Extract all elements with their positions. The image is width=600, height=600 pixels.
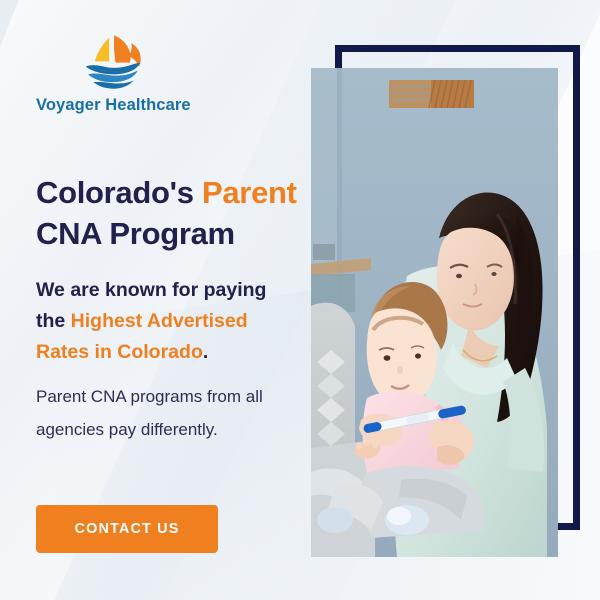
headline-accent: Parent <box>202 175 297 210</box>
content-column: Voyager Healthcare Colorado's ParentCNA … <box>36 0 304 600</box>
brand-logo[interactable]: Voyager Healthcare <box>36 34 266 115</box>
page-title: Colorado's ParentCNA Program <box>36 172 304 254</box>
headline-part-2: CNA Program <box>36 216 235 251</box>
headline-part-1: Colorado's <box>36 175 202 210</box>
brand-name: Voyager Healthcare <box>36 96 266 115</box>
sailboat-logo-icon <box>80 34 146 90</box>
body-text: Parent CNA programs from all agencies pa… <box>36 380 286 446</box>
advertisement-banner: Voyager Healthcare Colorado's ParentCNA … <box>0 0 600 600</box>
subheadline: We are known for paying the Highest Adve… <box>36 275 298 368</box>
contact-us-button[interactable]: CONTACT US <box>36 505 218 553</box>
mother-and-baby-illustration <box>311 68 558 557</box>
subhead-part-2: . <box>203 341 208 363</box>
hero-photo <box>311 68 558 557</box>
